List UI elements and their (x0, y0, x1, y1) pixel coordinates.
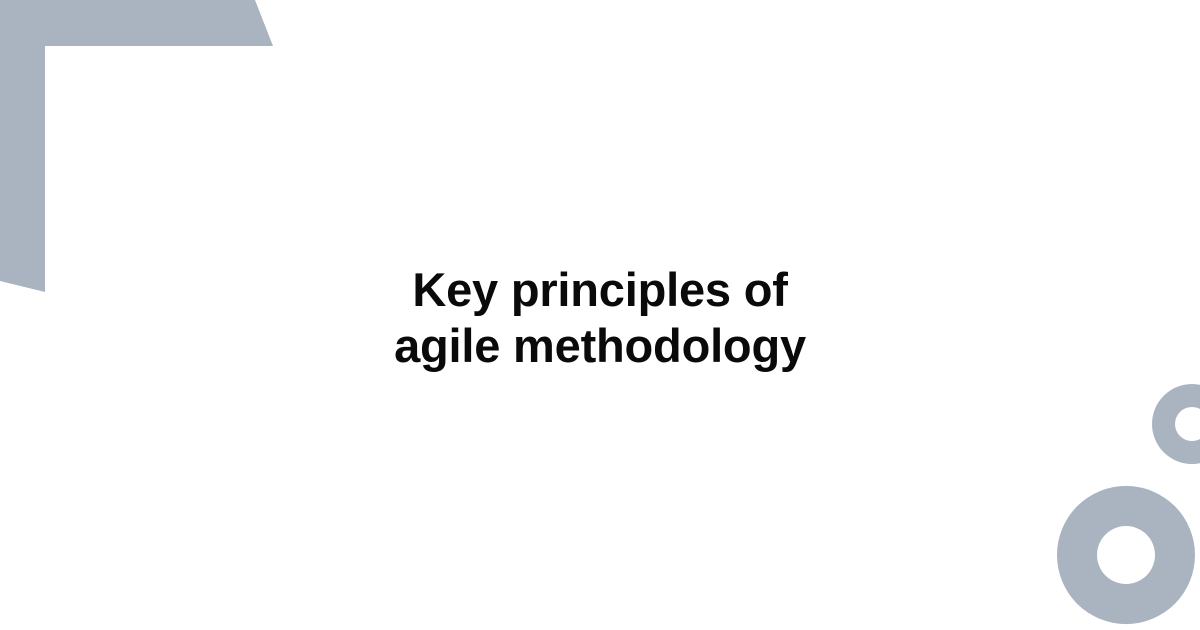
corner-bracket-shape (0, 0, 273, 292)
large-ring-icon (1057, 486, 1195, 624)
social-card-canvas: Key principles of agile methodology (0, 0, 1200, 630)
small-ring-icon (1152, 384, 1200, 464)
page-title-line-1: Key principles of (60, 262, 1140, 318)
page-title: Key principles of agile methodology (0, 262, 1200, 374)
page-title-line-2: agile methodology (60, 318, 1140, 374)
